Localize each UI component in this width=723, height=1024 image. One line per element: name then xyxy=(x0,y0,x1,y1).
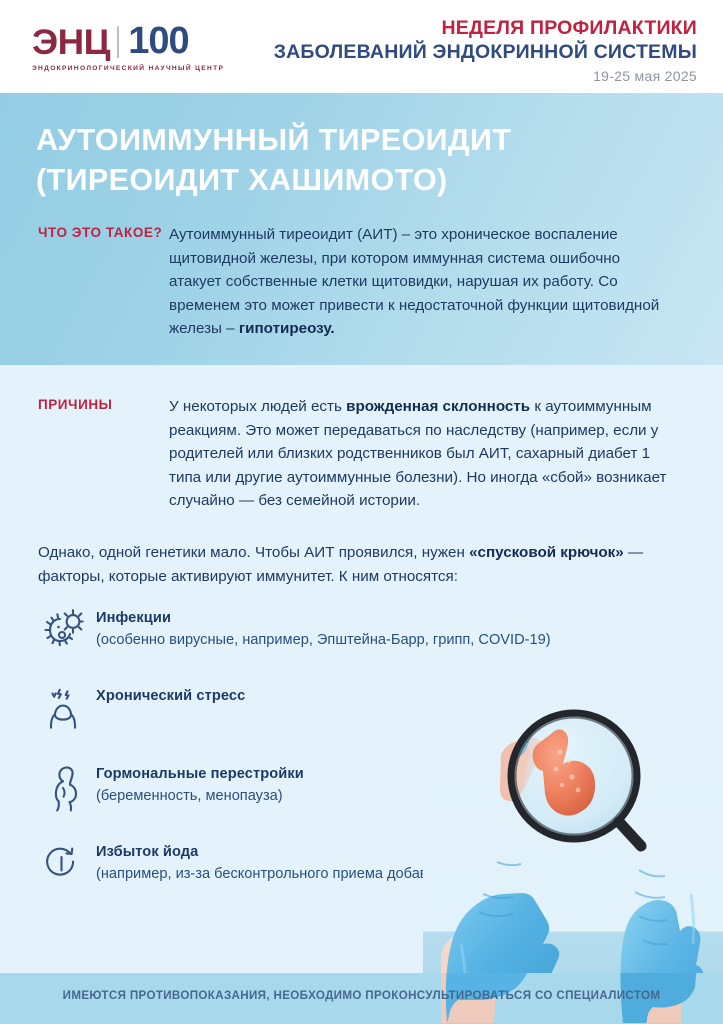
section-causes: ПРИЧИНЫ У некоторых людей есть врожденна… xyxy=(0,395,723,513)
logo-mark-text: ЭНЦ xyxy=(32,25,110,60)
logo-subtitle: ЭНДОКРИНОЛОГИЧЕСКИЙ НАУЧНЫЙ ЦЕНТР xyxy=(32,65,242,72)
footer-disclaimer-bar: ИМЕЮТСЯ ПРОТИВОПОКАЗАНИЯ, НЕОБХОДИМО ПРО… xyxy=(0,973,723,1024)
title-band: АУТОИММУННЫЙ ТИРЕОИДИТ (ТИРЕОИДИТ ХАШИМО… xyxy=(0,93,723,365)
enc-logo: ЭНЦ 100 ЭНДОКРИНОЛОГИЧЕСКИЙ НАУЧНЫЙ ЦЕНТ… xyxy=(32,22,242,72)
list-item: Избыток йода (например, из-за бесконтрол… xyxy=(30,839,680,891)
bacteria-virus-icon xyxy=(30,605,96,653)
page-title: АУТОИММУННЫЙ ТИРЕОИДИТ (ТИРЕОИДИТ ХАШИМО… xyxy=(36,121,676,200)
list-item-text: Инфекции (особенно вирусные, например, Э… xyxy=(96,605,551,650)
list-item: Инфекции (особенно вирусные, например, Э… xyxy=(30,605,680,657)
stressed-head-icon xyxy=(30,683,96,731)
campaign-line-2: ЗАБОЛЕВАНИЙ ЭНДОКРИННОЙ СИСТЕМЫ xyxy=(274,41,697,65)
trigger-title: Избыток йода xyxy=(96,843,447,863)
disclaimer-text: ИМЕЮТСЯ ПРОТИВОПОКАЗАНИЯ, НЕОБХОДИМО ПРО… xyxy=(0,989,723,1002)
content-band: ПРИЧИНЫ У некоторых людей есть врожденна… xyxy=(0,365,723,973)
campaign-date-range: 19-25 мая 2025 xyxy=(274,68,697,84)
poster: ЭНЦ 100 ЭНДОКРИНОЛОГИЧЕСКИЙ НАУЧНЫЙ ЦЕНТ… xyxy=(0,0,723,1024)
trigger-subtitle: (особенно вирусные, например, Эпштейна-Б… xyxy=(96,630,551,651)
list-item-text: Хронический стресс xyxy=(96,683,245,708)
trigger-intro-paragraph: Однако, одной генетики мало. Чтобы АИТ п… xyxy=(38,541,688,588)
trigger-list: Инфекции (особенно вирусные, например, Э… xyxy=(30,605,680,917)
list-item: Гормональные перестройки (беременность, … xyxy=(30,761,680,813)
trigger-title: Инфекции xyxy=(96,609,551,629)
logo-divider xyxy=(117,26,119,58)
pregnant-woman-icon xyxy=(30,761,96,813)
list-item-text: Избыток йода (например, из-за бесконтрол… xyxy=(96,839,447,884)
list-item-text: Гормональные перестройки (беременность, … xyxy=(96,761,304,806)
list-item: Хронический стресс xyxy=(30,683,680,735)
trigger-subtitle: (беременность, менопауза) xyxy=(96,786,304,807)
trigger-title: Хронический стресс xyxy=(96,687,245,707)
poster-header: ЭНЦ 100 ЭНДОКРИНОЛОГИЧЕСКИЙ НАУЧНЫЙ ЦЕНТ… xyxy=(0,0,723,93)
campaign-line-1: НЕДЕЛЯ ПРОФИЛАКТИКИ xyxy=(274,17,697,41)
logo-anniversary-text: 100 xyxy=(128,22,188,60)
section-body-what-is-it: Аутоиммунный тиреоидит (АИТ) – это хрони… xyxy=(169,223,669,341)
iodine-cycle-icon xyxy=(30,839,96,887)
campaign-heading: НЕДЕЛЯ ПРОФИЛАКТИКИ ЗАБОЛЕВАНИЙ ЭНДОКРИН… xyxy=(274,17,697,84)
section-body-causes: У некоторых людей есть врожденная склонн… xyxy=(169,395,669,513)
section-what-is-it: ЧТО ЭТО ТАКОЕ? Аутоиммунный тиреоидит (А… xyxy=(0,223,723,341)
trigger-subtitle: (например, из-за бесконтрольного приема … xyxy=(96,864,447,885)
section-label-what-is-it: ЧТО ЭТО ТАКОЕ? xyxy=(0,223,169,341)
section-label-causes: ПРИЧИНЫ xyxy=(0,395,169,513)
trigger-title: Гормональные перестройки xyxy=(96,765,304,785)
logo-row: ЭНЦ 100 xyxy=(32,22,242,60)
